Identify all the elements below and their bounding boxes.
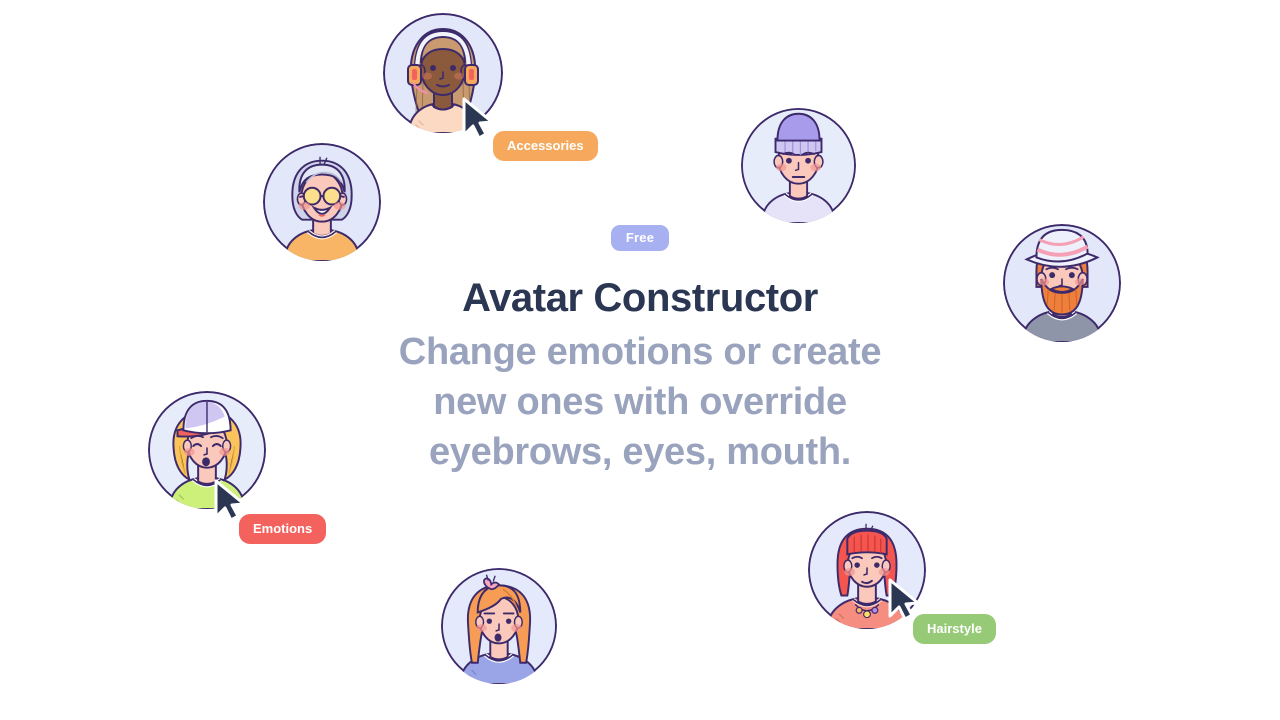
page-title: Avatar Constructor bbox=[0, 277, 1280, 319]
hero-text-block: Free Avatar Constructor Change emotions … bbox=[0, 225, 1280, 477]
tag-accessories[interactable]: Accessories bbox=[493, 131, 598, 161]
badge-free: Free bbox=[611, 225, 669, 251]
avatar-man-purple-beanie[interactable] bbox=[741, 108, 856, 223]
tag-emotions[interactable]: Emotions bbox=[239, 514, 326, 544]
subtitle-line-3: eyebrows, eyes, mouth. bbox=[0, 427, 1280, 477]
subtitle-line-2: new ones with override bbox=[0, 377, 1280, 427]
page-subtitle: Change emotions or create new ones with … bbox=[0, 327, 1280, 477]
subtitle-line-1: Change emotions or create bbox=[0, 327, 1280, 377]
poster-canvas: Accessories Emotions Hairstyle Free Avat… bbox=[0, 0, 1280, 720]
tag-hairstyle[interactable]: Hairstyle bbox=[913, 614, 996, 644]
avatar-orange-hair-girl-bow[interactable] bbox=[441, 568, 557, 684]
